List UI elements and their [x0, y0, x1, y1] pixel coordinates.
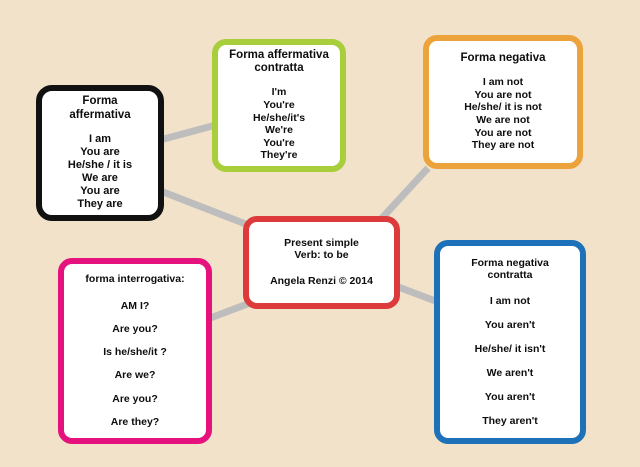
node-line: You're — [253, 99, 305, 112]
node-line: You aren't — [475, 320, 546, 331]
node-line: He/she/ it isn't — [475, 344, 546, 355]
node-line: Are they? — [103, 417, 167, 428]
node-title: Present simple Verb: to be — [284, 238, 359, 262]
node-line: They aren't — [475, 416, 546, 427]
node-forma-interrogativa[interactable]: forma interrogativa: AM I? Are you? Is h… — [58, 258, 212, 444]
node-title-line-1: Forma — [82, 95, 117, 107]
node-title: Forma affermativa — [69, 95, 130, 121]
node-line: You are — [68, 185, 132, 198]
node-line: Is he/she/it ? — [103, 347, 167, 358]
node-title-line-2: Verb: to be — [294, 249, 348, 261]
node-body: I am not You aren't He/she/ it isn't We … — [475, 296, 546, 427]
node-title: Forma affermativa contratta — [229, 49, 329, 75]
connector-affermativa-to-contratta — [160, 125, 216, 140]
node-line: I am not — [464, 76, 542, 89]
node-line: You are not — [464, 127, 542, 140]
node-forma-negativa[interactable]: Forma negativa I am not You are not He/s… — [423, 35, 583, 169]
node-body: I am not You are not He/she/ it is not W… — [464, 76, 542, 152]
node-center-present-simple[interactable]: Present simple Verb: to be Angela Renzi … — [243, 216, 400, 309]
node-line: We are — [68, 172, 132, 185]
node-line: I'm — [253, 86, 305, 99]
connector-negativa-to-center — [382, 168, 428, 218]
node-line: They are not — [464, 139, 542, 152]
node-line: I am not — [475, 296, 546, 307]
connector-affermativa-to-center — [158, 190, 256, 228]
node-title-line-1: Forma affermativa — [229, 49, 329, 61]
node-line: You're — [253, 137, 305, 150]
node-line: You are — [68, 146, 132, 159]
node-title: forma interrogativa: — [85, 274, 184, 286]
node-line: You aren't — [475, 392, 546, 403]
node-line: Are you? — [103, 394, 167, 405]
node-line: We are not — [464, 114, 542, 127]
node-title-line-1: Forma negativa — [461, 52, 546, 64]
node-line: AM I? — [103, 301, 167, 312]
node-title-line-1: Present simple — [284, 237, 359, 249]
node-line: He/she / it is — [68, 159, 132, 172]
author-credit: Angela Renzi © 2014 — [270, 275, 373, 287]
mindmap-canvas: Forma affermativa I am You are He/she / … — [0, 0, 640, 467]
node-line: We're — [253, 124, 305, 137]
node-forma-affermativa[interactable]: Forma affermativa I am You are He/she / … — [36, 85, 164, 221]
node-line: Are we? — [103, 370, 167, 381]
node-title: Forma negativa contratta — [471, 257, 549, 281]
node-title: Forma negativa — [461, 52, 546, 65]
node-title-line-2: affermativa — [69, 109, 130, 121]
node-forma-affermativa-contratta[interactable]: Forma affermativa contratta I'm You're H… — [212, 39, 346, 172]
node-line: I am — [68, 133, 132, 146]
node-line: Are you? — [103, 324, 167, 335]
node-line: They're — [253, 149, 305, 162]
node-line: You are not — [464, 89, 542, 102]
node-body: I am You are He/she / it is We are You a… — [68, 133, 132, 211]
node-title-line-1: Forma negativa — [471, 257, 549, 269]
node-line: They are — [68, 198, 132, 211]
node-title-line-2: contratta — [488, 269, 533, 281]
node-line: He/she/ it is not — [464, 101, 542, 114]
node-line: He/she/it's — [253, 112, 305, 125]
node-line: We aren't — [475, 368, 546, 379]
node-title-line-1: forma interrogativa: — [85, 273, 184, 285]
node-body: I'm You're He/she/it's We're You're They… — [253, 86, 305, 162]
node-body: AM I? Are you? Is he/she/it ? Are we? Ar… — [103, 301, 167, 427]
node-forma-negativa-contratta[interactable]: Forma negativa contratta I am not You ar… — [434, 240, 586, 444]
node-title-line-2: contratta — [254, 62, 303, 74]
